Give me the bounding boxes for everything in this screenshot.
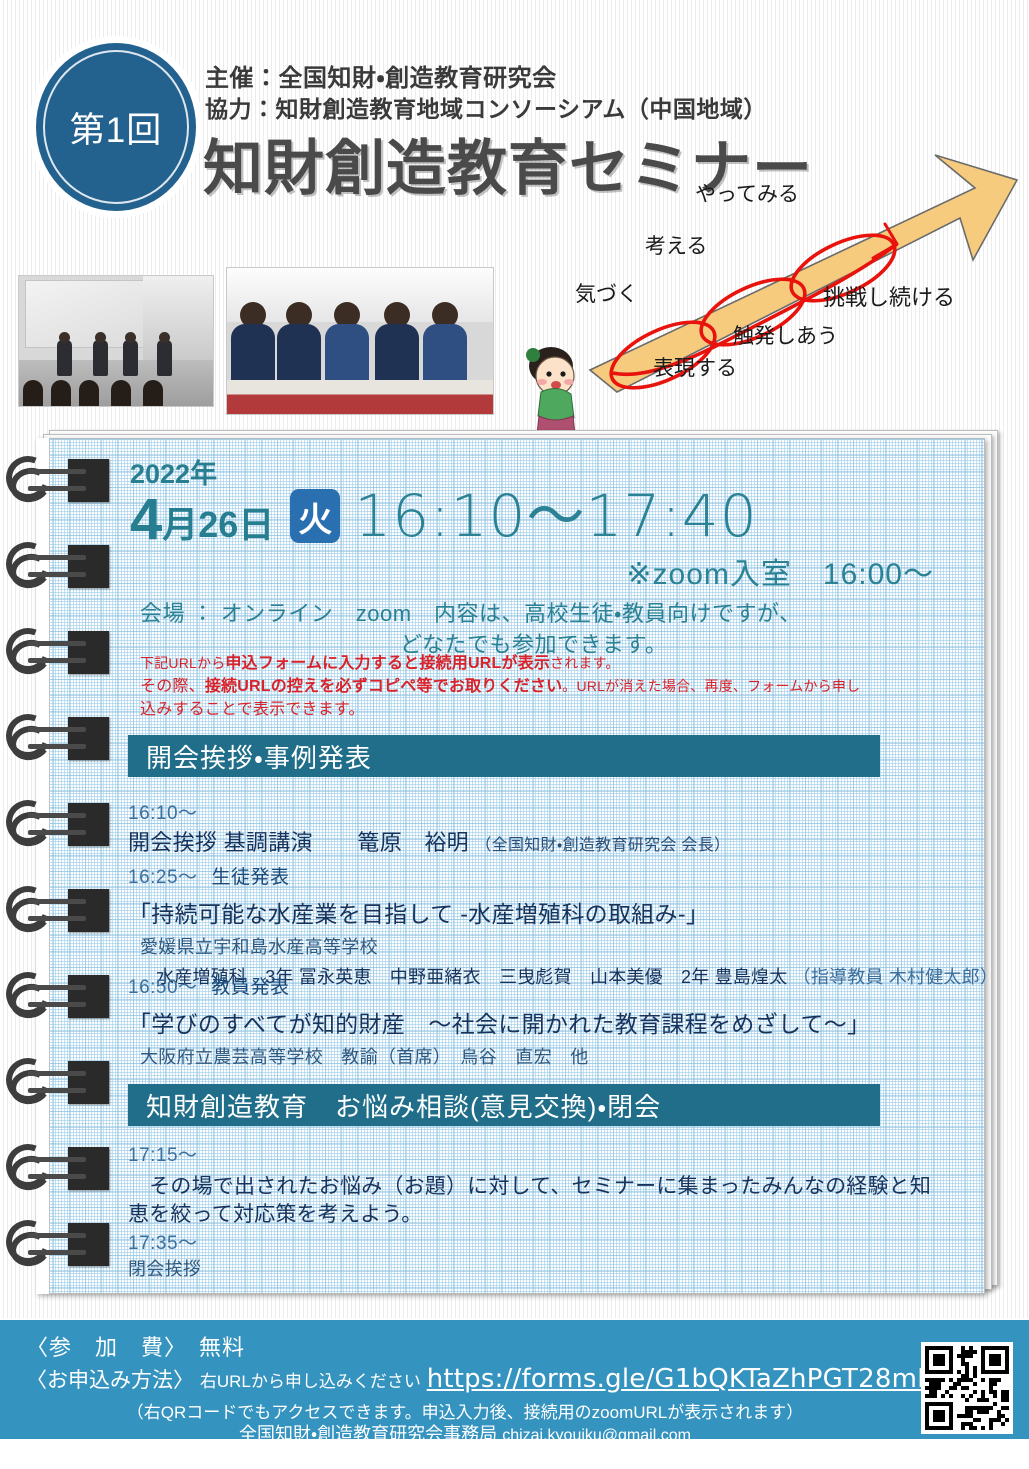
notice-l1-b: 申込フォームに入力すると接続用URLが表示 [225, 655, 550, 672]
program-section-1-header: 開会挨拶・事例発表 [128, 735, 880, 777]
keyword-think: 考える [645, 230, 707, 260]
program-item-time: 16:25〜生徒発表 [128, 862, 998, 889]
program-item-opening: 16:10〜 開会挨拶 基調講演 篭原 裕明 （全国知財・創造教育研究会 会長） [128, 798, 998, 857]
notice-l1-a: 下記URLから [140, 655, 225, 671]
program-item-student-presentation: 16:25〜生徒発表 「持続可能な水産業を目指して -水産増殖科の取組み-」 愛… [128, 862, 998, 989]
zoom-support-line: （zoom配信サポート 合同会社ブレスシステムズ） [0, 1444, 930, 1469]
keyword-notice: 気づく [575, 278, 638, 308]
program-item-closing: 17:35〜 閉会挨拶 [128, 1228, 998, 1281]
program-item-school: 愛媛県立宇和島水産高等学校 [140, 933, 998, 959]
spiral-ring [6, 794, 118, 864]
registration-notice: 下記URLから申込フォームに入力すると接続用URLが表示されます。 その際、接続… [140, 652, 970, 722]
program-item-main: 開会挨拶 基調講演 篭原 裕明 （全国知財・創造教育研究会 会長） [128, 825, 998, 857]
program-item-affiliation: （全国知財・創造教育研究会 会長） [475, 837, 730, 854]
program-item-kind: 教員発表 [212, 977, 290, 998]
issue-number-badge: 第1回 [36, 43, 196, 211]
spiral-ring [6, 536, 118, 606]
program-item-school: 大阪府立農芸高等学校 教諭（首席） 烏谷 直宏 他 [140, 1043, 998, 1069]
keyword-try: やってみる [695, 178, 799, 208]
poster-footer: 〈参 加 費〉 無料 〈お申込み方法〉 右URLから申し込みください https… [0, 1318, 1029, 1439]
event-datetime-block: 2022年 4 月26日 火 16:10〜17:40 ※zoom入室 16:00… [130, 452, 990, 593]
program-item-time: 16:10〜 [128, 798, 998, 825]
program-section-2-header: 知財創造教育 お悩み相談(意見交換)・閉会 [128, 1084, 880, 1126]
host-organization-line: 主催：全国知財・創造教育研究会 [205, 58, 557, 93]
program-item-time-text: 16:50〜 [128, 977, 198, 998]
running-child-figure [526, 347, 579, 430]
poster-header: 第1回 主催：全国知財・創造教育研究会 協力：知財創造教育地域コンソーシアム（中… [0, 0, 1029, 258]
venue-line-1: 会場 ： オンライン zoom 内容は、高校生徒・教員向けですが、 [140, 596, 802, 628]
photo-presentation [18, 275, 214, 407]
poster-canvas: 第1回 主催：全国知財・創造教育研究会 協力：知財創造教育地域コンソーシアム（中… [0, 0, 1029, 1439]
event-month-day: 月26日 [162, 507, 274, 547]
notice-l2-c: 。URLが消えた場合、再度、フォームから申し [562, 678, 860, 694]
qr-code[interactable] [921, 1342, 1013, 1434]
event-date-row: 4 月26日 火 16:10〜17:40 [130, 487, 990, 547]
notice-line-3: 込みすることで表示できます。 [140, 698, 970, 721]
keyword-keep-challenging: 挑戦し続ける [823, 280, 955, 312]
program-item-closing-label: 閉会挨拶 [128, 1255, 998, 1281]
organizer-name: 全国知財・創造教育研究会事務局 [239, 1424, 497, 1444]
program-item-teacher-presentation: 16:50〜教員発表 「学びのすべてが知的財産 〜社会に開かれた教育課程をめざし… [128, 972, 998, 1069]
photo-audience [226, 267, 494, 415]
program-item-time: 16:50〜教員発表 [128, 972, 998, 999]
spiral-binding [0, 438, 120, 1294]
program-item-consultation: 17:15〜 その場で出されたお悩み（お題）に対して、セミナーに集まったみんなの… [128, 1140, 998, 1230]
notice-l1-c: されます。 [550, 655, 620, 671]
spiral-ring [6, 450, 118, 520]
spiral-ring [6, 1214, 118, 1284]
notice-line-2: その際、接続URLの控えを必ずコピペ等でお取りください。URLが消えた場合、再度… [140, 675, 970, 698]
organizer-email[interactable]: chizai.kyouiku@gmail.com [502, 1427, 691, 1444]
apply-line: 〈お申込み方法〉 右URLから申し込みください https://forms.gl… [26, 1364, 949, 1394]
apply-instruction: 右URLから申し込みください [200, 1372, 421, 1391]
zoom-entry-time: ※zoom入室 16:00〜 [130, 549, 990, 593]
program-item-time: 17:15〜 [128, 1140, 998, 1167]
program-item-kind: 生徒発表 [212, 867, 290, 888]
spiral-ring [6, 1138, 118, 1208]
event-month-number: 4 [130, 492, 162, 547]
cooperating-organization-line: 協力：知財創造教育地域コンソーシアム（中国地域） [205, 90, 767, 124]
spiral-ring [6, 622, 118, 692]
program-item-body-line-1: その場で出されたお悩み（お題）に対して、セミナーに集まったみんなの経験と知 [128, 1173, 998, 1201]
event-weekday-badge: 火 [290, 489, 340, 543]
spiral-ring [6, 1052, 118, 1122]
apply-form-url-link[interactable]: https://forms.gle/G1bQKTaZhPGT28mL6 [427, 1364, 949, 1394]
notice-l2-b: 接続URLの控えを必ずコピペ等でお取りください [205, 678, 562, 695]
spiral-ring [6, 708, 118, 778]
event-time-range: 16:10〜17:40 [354, 487, 757, 547]
keyword-inspire-each-other: 触発しあう [733, 320, 838, 350]
program-item-time-text: 16:25〜 [128, 867, 198, 888]
growth-arrow-graphic: やってみる 考える 気づく 挑戦し続ける 触発しあう 表現する [505, 140, 1029, 430]
program-item-main-text: 開会挨拶 基調講演 篭原 裕明 [128, 830, 469, 855]
organizer-line: 全国知財・創造教育研究会事務局 chizai.kyouiku@gmail.com [0, 1420, 930, 1446]
notice-line-1: 下記URLから申込フォームに入力すると接続用URLが表示されます。 [140, 652, 970, 675]
spiral-ring [6, 880, 118, 950]
apply-label: 〈お申込み方法〉 [26, 1369, 194, 1392]
program-item-body-line-2: 恵を絞って対応策を考えよう。 [128, 1201, 998, 1229]
program-item-title: 「持続可能な水産業を目指して -水産増殖科の取組み-」 [128, 895, 998, 929]
fee-line: 〈参 加 費〉 無料 [26, 1330, 245, 1362]
notice-l2-a: その際、 [140, 678, 205, 695]
issue-number-label: 第1回 [70, 102, 162, 153]
program-item-time: 17:35〜 [128, 1228, 998, 1255]
program-item-title: 「学びのすべてが知的財産 〜社会に開かれた教育課程をめざして〜」 [128, 1005, 998, 1039]
keyword-express: 表現する [653, 352, 737, 382]
spiral-ring [6, 966, 118, 1036]
qr-code-grid [925, 1346, 1009, 1430]
